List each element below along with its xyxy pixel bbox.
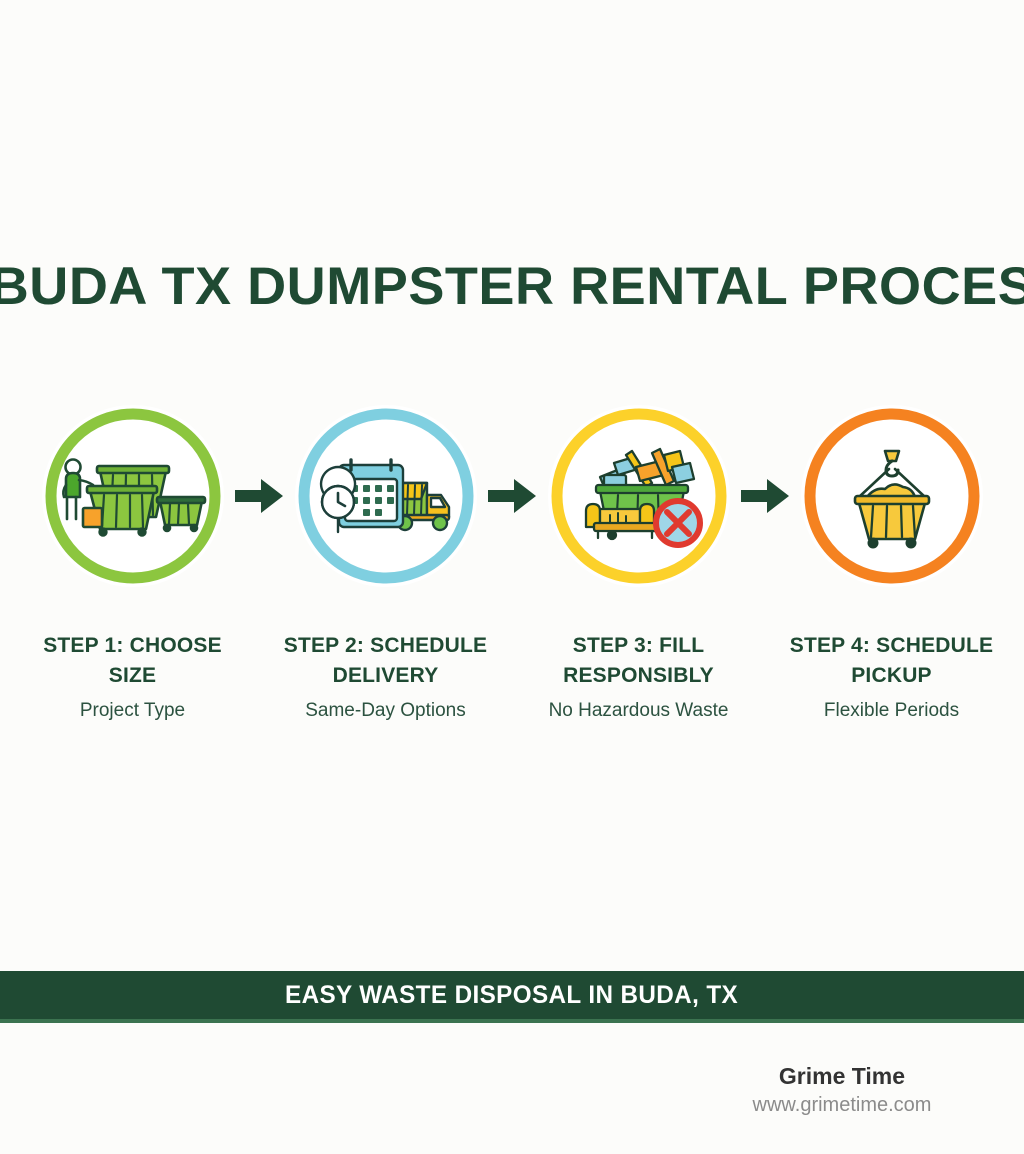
step-3[interactable]: STEP 3: FILL RESPONSIBLY No Hazardous Wa… <box>544 405 734 722</box>
step-1-circle <box>42 405 224 587</box>
step-3-title: STEP 3: FILL RESPONSIBLY <box>536 631 741 691</box>
step-1[interactable]: STEP 1: CHOOSE SIZE Project Type <box>38 405 228 722</box>
step-2-subtitle: Same-Day Options <box>278 700 493 722</box>
person-with-dumpsters-icon <box>42 405 224 587</box>
step-2-title: STEP 2: SCHEDULE DELIVERY <box>283 631 488 691</box>
footer-banner-text: EASY WASTE DISPOSAL IN BUDA, TX <box>285 981 738 1010</box>
dumpster-lifted-by-hook-icon <box>801 405 983 587</box>
brand-name: Grime Time <box>692 1063 992 1090</box>
step-4-circle <box>801 405 983 587</box>
arrow-2-3 <box>481 405 544 587</box>
process-steps-row: STEP 1: CHOOSE SIZE Project Type <box>0 405 1024 722</box>
arrow-3-4 <box>734 405 797 587</box>
calendar-clock-truck-icon <box>295 405 477 587</box>
step-4-subtitle: Flexible Periods <box>784 700 999 722</box>
arrow-right-icon <box>233 476 285 516</box>
arrow-right-icon <box>486 476 538 516</box>
arrow-right-icon <box>739 476 791 516</box>
step-1-title: STEP 1: CHOOSE SIZE <box>30 631 235 691</box>
footer-banner: EASY WASTE DISPOSAL IN BUDA, TX <box>0 971 1024 1023</box>
step-2-circle <box>295 405 477 587</box>
step-4[interactable]: STEP 4: SCHEDULE PICKUP Flexible Periods <box>797 405 987 722</box>
brand-url: www.grimetime.com <box>692 1094 992 1117</box>
step-3-circle <box>548 405 730 587</box>
step-2[interactable]: STEP 2: SCHEDULE DELIVERY Same-Day Optio… <box>291 405 481 722</box>
brand-block: Grime Time www.grimetime.com <box>692 1063 992 1117</box>
step-4-title: STEP 4: SCHEDULE PICKUP <box>789 631 994 691</box>
arrow-1-2 <box>228 405 291 587</box>
page-title: BUDA TX DUMPSTER RENTAL PROCESS <box>0 256 1024 317</box>
full-dumpster-prohibited-icon <box>548 405 730 587</box>
infographic-canvas: BUDA TX DUMPSTER RENTAL PROCESS <box>0 0 1024 1154</box>
step-1-subtitle: Project Type <box>25 700 240 722</box>
step-3-subtitle: No Hazardous Waste <box>531 700 746 722</box>
